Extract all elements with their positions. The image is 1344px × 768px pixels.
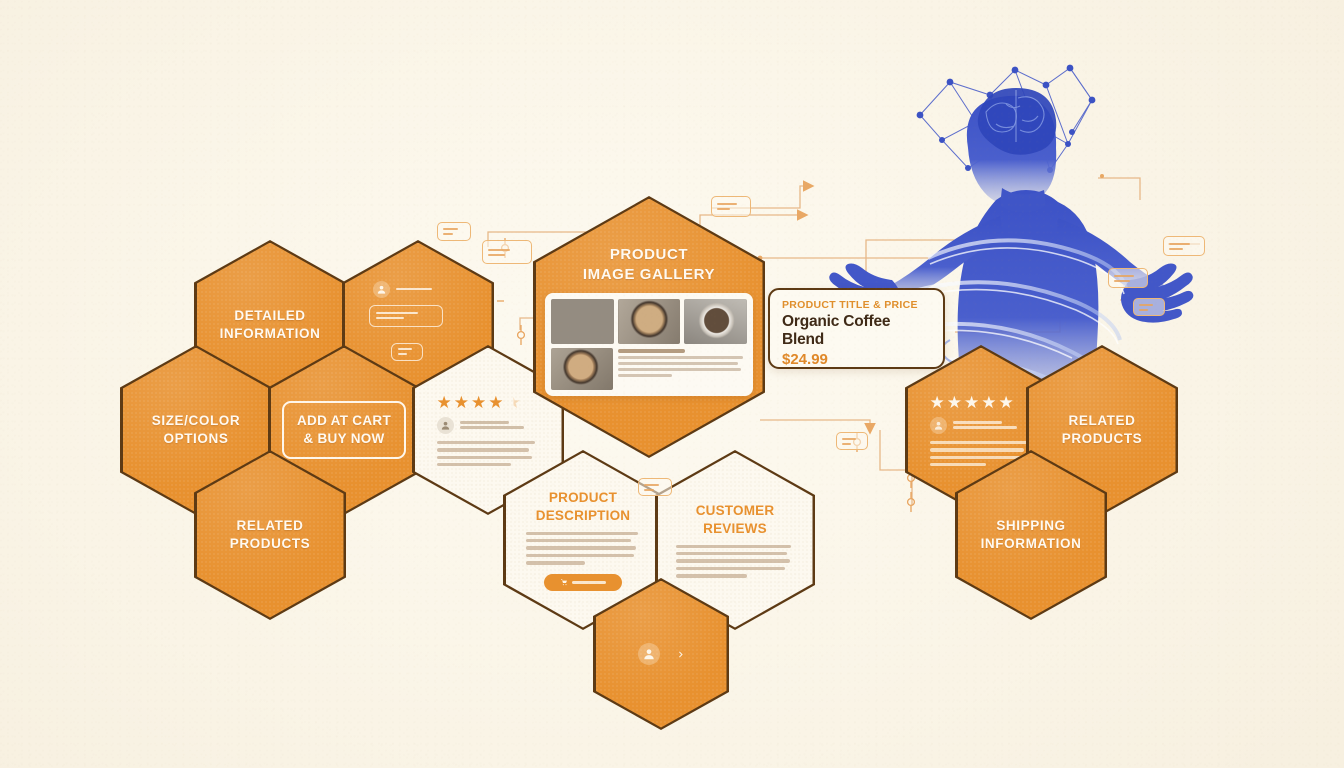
node-card — [836, 432, 868, 450]
node-card — [638, 478, 672, 496]
gallery-thumb[interactable] — [551, 348, 613, 390]
star-half-icon: ★ — [506, 394, 521, 411]
star-rating: ★ ★ ★ ★ ★ — [930, 394, 1033, 411]
user-icon — [437, 417, 454, 434]
star-rating: ★ ★ ★ ★ ★ — [437, 394, 540, 411]
hex-label: RELATED PRODUCTS — [218, 517, 323, 553]
reviewer-meta — [953, 421, 1033, 429]
description-body — [526, 532, 641, 565]
star-icon: ★ — [454, 394, 469, 411]
hex-label: SHIPPING INFORMATION — [969, 517, 1094, 553]
star-icon: ★ — [981, 394, 996, 411]
node-card — [1108, 268, 1148, 288]
hex-label: SIZE/COLOR OPTIONS — [140, 412, 253, 448]
gallery-thumb-row — [551, 299, 747, 344]
gallery-thumb[interactable] — [551, 299, 614, 344]
panel-title: CUSTOMER REVIEWS — [676, 502, 795, 537]
reviewer — [930, 417, 1033, 434]
reviews-content: CUSTOMER REVIEWS — [658, 502, 813, 577]
canvas: DETAILED INFORMATION — [0, 0, 1344, 768]
hex-label: PRODUCT IMAGE GALLERY — [571, 245, 727, 286]
star-icon: ★ — [471, 394, 486, 411]
card-kicker: PRODUCT TITLE & PRICE — [782, 299, 931, 311]
node-card — [1133, 298, 1165, 316]
node-card — [1163, 236, 1205, 256]
gallery-thumb[interactable] — [684, 299, 747, 344]
description-content: PRODUCT DESCRIPTION — [506, 489, 661, 590]
user-icon — [373, 281, 390, 298]
hex-label: RELATED PRODUCTS — [1050, 412, 1155, 448]
reviews-body — [676, 545, 795, 578]
hex-related-products-left[interactable]: RELATED PRODUCTS — [194, 450, 346, 620]
gallery-thumb[interactable] — [618, 299, 681, 344]
product-name: Organic Coffee Blend — [782, 313, 931, 349]
star-icon: ★ — [437, 394, 452, 411]
hex-shipping-information[interactable]: SHIPPING INFORMATION — [955, 450, 1107, 620]
cart-icon — [560, 578, 568, 586]
node-card — [711, 196, 751, 217]
hex-label: DETAILED INFORMATION — [208, 307, 333, 343]
reviewer-meta — [460, 421, 540, 429]
gallery-caption — [618, 348, 747, 390]
gallery-detail-row — [551, 348, 747, 390]
dropdown-field[interactable] — [369, 305, 443, 327]
node-card — [437, 222, 471, 241]
user-icon — [930, 417, 947, 434]
product-gallery-card[interactable] — [545, 293, 753, 396]
star-icon: ★ — [947, 394, 962, 411]
panel-title: PRODUCT DESCRIPTION — [526, 489, 641, 524]
star-icon: ★ — [999, 394, 1014, 411]
reviewer — [437, 417, 540, 434]
star-icon: ★ — [930, 394, 945, 411]
user-icon — [638, 643, 660, 665]
star-icon: ★ — [964, 394, 979, 411]
star-icon: ★ — [488, 394, 503, 411]
node-card — [482, 240, 532, 264]
hex-account-summary[interactable] — [593, 578, 729, 730]
chevron-right-icon — [676, 650, 685, 659]
